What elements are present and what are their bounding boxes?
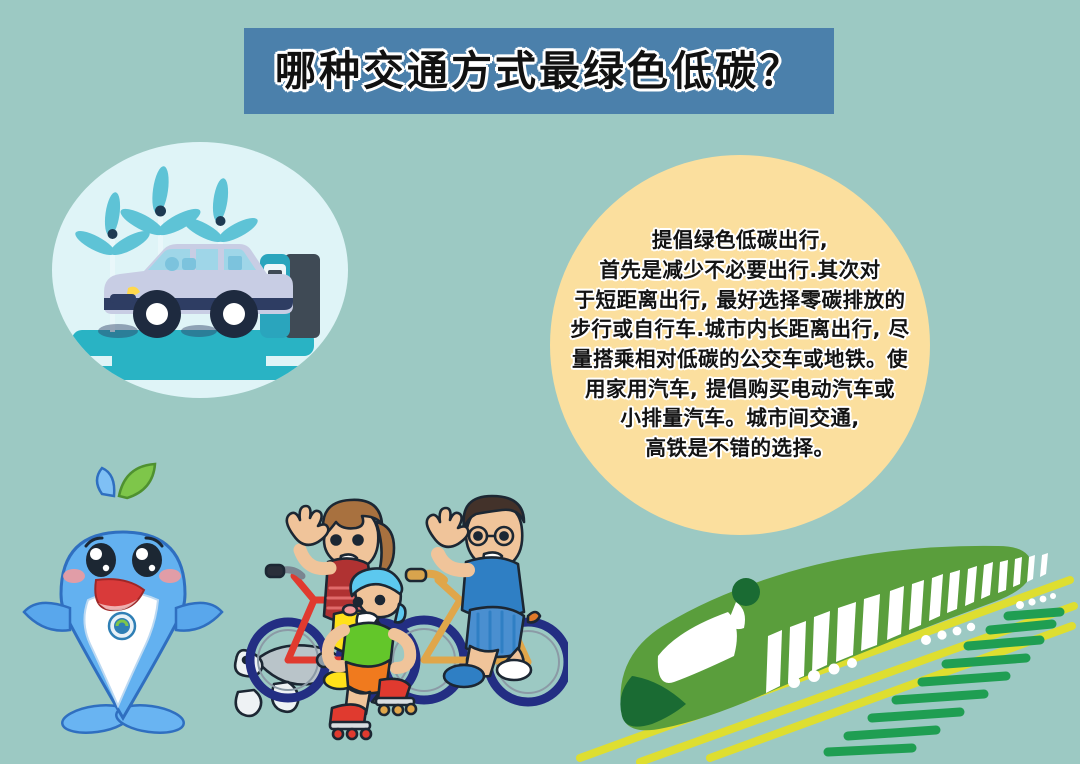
page-title: 哪种交通方式最绿色低碳？ <box>275 51 803 92</box>
dolphin-mascot-icon <box>18 462 228 747</box>
family-cycling-illustration <box>228 448 568 748</box>
body-text-circle: 提倡绿色低碳出行, 首先是减少不必要出行.其次对 于短距离出行, 最好选择零碳排… <box>550 155 930 535</box>
body-line: 高铁是不错的选择。 <box>558 434 922 464</box>
poster-canvas: 哪种交通方式最绿色低碳？ <box>0 0 1080 764</box>
body-line: 用家用汽车, 提倡购买电动汽车或 <box>558 375 922 405</box>
body-line: 首先是减少不必要出行.其次对 <box>558 256 922 286</box>
title-banner: 哪种交通方式最绿色低碳？ <box>244 28 834 114</box>
body-text: 提倡绿色低碳出行, 首先是减少不必要出行.其次对 于短距离出行, 最好选择零碳排… <box>558 226 922 464</box>
body-line: 步行或自行车.城市内长距离出行, 尽 <box>558 315 922 345</box>
body-line: 量搭乘相对低碳的公交车或地铁。使 <box>558 345 922 375</box>
ev-charging-illustration <box>52 142 348 398</box>
ev-charging-icon <box>52 142 348 398</box>
body-line: 小排量汽车。城市间交通, <box>558 404 922 434</box>
high-speed-train-illustration <box>560 530 1080 764</box>
body-line: 于短距离出行, 最好选择零碳排放的 <box>558 286 922 316</box>
body-line: 提倡绿色低碳出行, <box>558 226 922 256</box>
